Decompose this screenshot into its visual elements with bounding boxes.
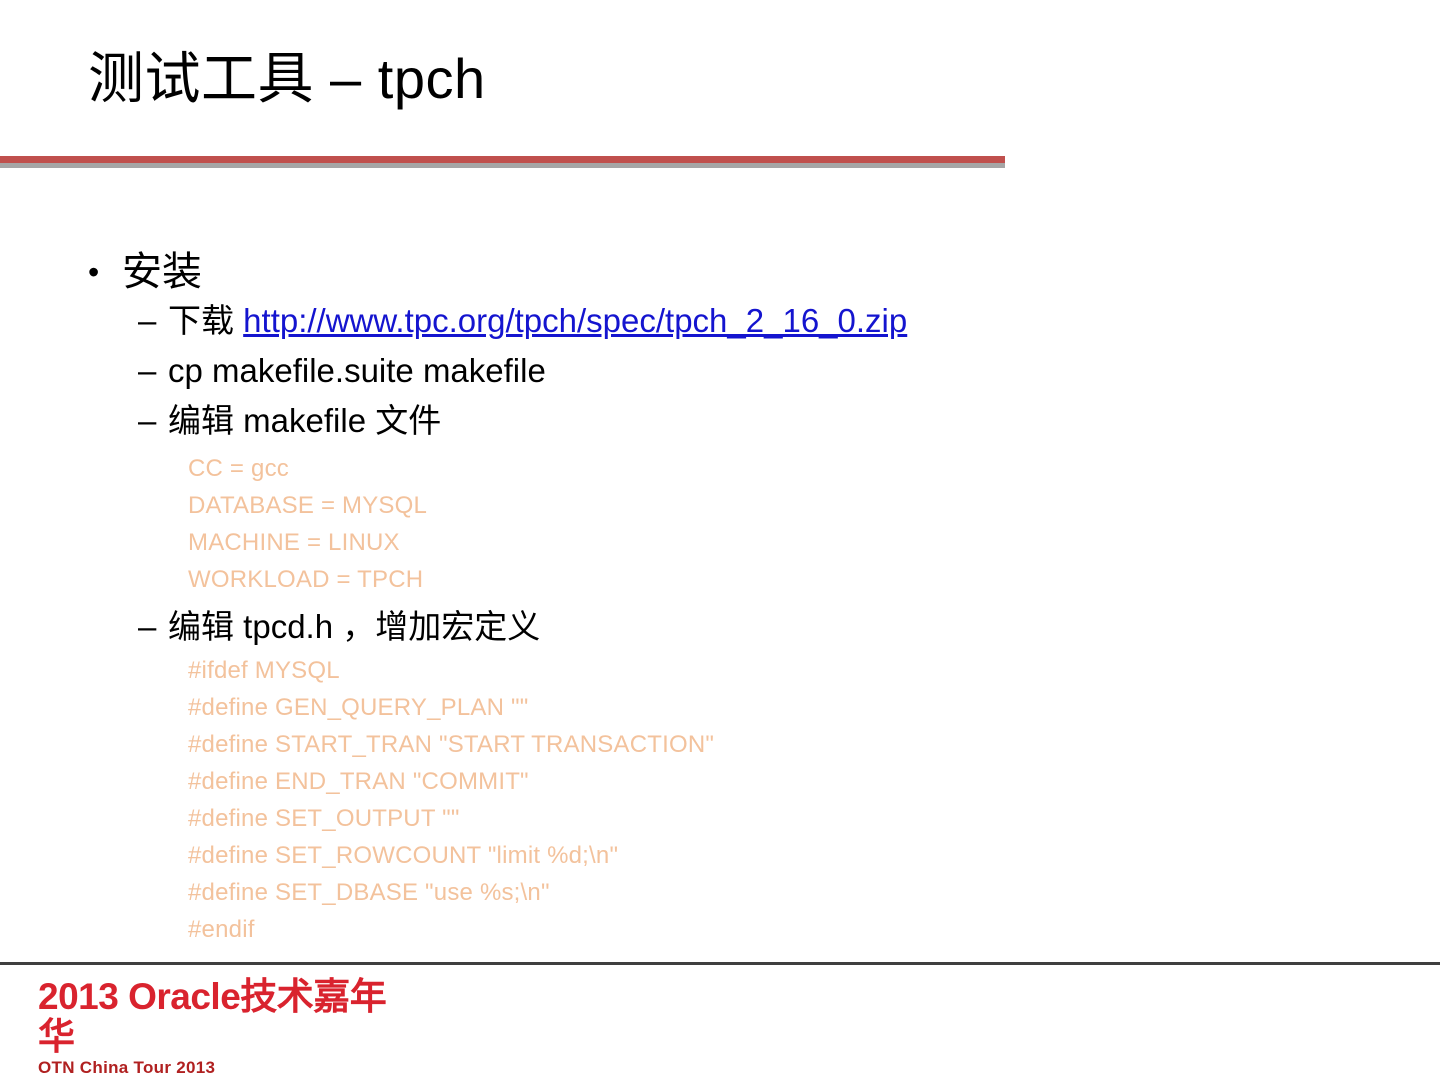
dash-icon: –: [138, 346, 156, 396]
code-line: CC = gcc: [0, 450, 1440, 487]
slide-body: • 安装 – 下载 http://www.tpc.org/tpch/spec/t…: [0, 248, 1440, 948]
event-logo: 2013 Oracle技术嘉年华 OTN China Tour 2013 数据库…: [38, 977, 398, 1080]
code-line: #define START_TRAN "START TRANSACTION": [0, 726, 1440, 763]
dash-icon: –: [138, 296, 156, 346]
bullet-level1-install: • 安装: [0, 248, 1440, 296]
code-line: #define GEN_QUERY_PLAN "": [0, 689, 1440, 726]
slide-footer: 2013 Oracle技术嘉年华 OTN China Tour 2013 数据库…: [0, 965, 1440, 1080]
dash-icon: –: [138, 396, 156, 446]
bullet-level1-label: 安装: [122, 250, 202, 294]
code-line: WORKLOAD = TPCH: [0, 561, 1440, 598]
list-item-download: – 下载 http://www.tpc.org/tpch/spec/tpch_2…: [0, 296, 1440, 346]
event-logo-subtitle: OTN China Tour 2013: [38, 1057, 398, 1078]
code-line: #define SET_DBASE "use %s;\n": [0, 874, 1440, 911]
dash-icon: –: [138, 602, 156, 652]
list-item-cp-makefile: – cp makefile.suite makefile: [0, 346, 1440, 396]
code-line: DATABASE = MYSQL: [0, 487, 1440, 524]
bullet-dot-icon: •: [88, 248, 99, 296]
code-line: #ifdef MYSQL: [0, 652, 1440, 689]
code-line: #define SET_OUTPUT "": [0, 800, 1440, 837]
code-line: MACHINE = LINUX: [0, 524, 1440, 561]
list-item-prefix: 下载: [168, 302, 243, 339]
list-item-label: 编辑 tpcd.h ，增加宏定义: [168, 608, 540, 645]
list-item-edit-makefile: – 编辑 makefile 文件: [0, 396, 1440, 446]
event-logo-title: 2013 Oracle技术嘉年华: [38, 977, 398, 1057]
list-item-label: cp makefile.suite makefile: [168, 352, 546, 389]
list-item-label: 编辑 makefile 文件: [168, 402, 441, 439]
tpch-download-link[interactable]: http://www.tpc.org/tpch/spec/tpch_2_16_0…: [243, 302, 907, 339]
title-divider-accent: [0, 156, 1005, 163]
title-divider-shadow: [0, 163, 1005, 168]
code-line: #endif: [0, 911, 1440, 948]
slide: 测试工具 – tpch • 安装 – 下载 http://www.tpc.org…: [0, 0, 1440, 1080]
page-title: 测试工具 – tpch: [88, 48, 486, 110]
code-line: #define SET_ROWCOUNT "limit %d;\n": [0, 837, 1440, 874]
code-line: #define END_TRAN "COMMIT": [0, 763, 1440, 800]
list-item-edit-tpcd-h: – 编辑 tpcd.h ，增加宏定义: [0, 602, 1440, 652]
